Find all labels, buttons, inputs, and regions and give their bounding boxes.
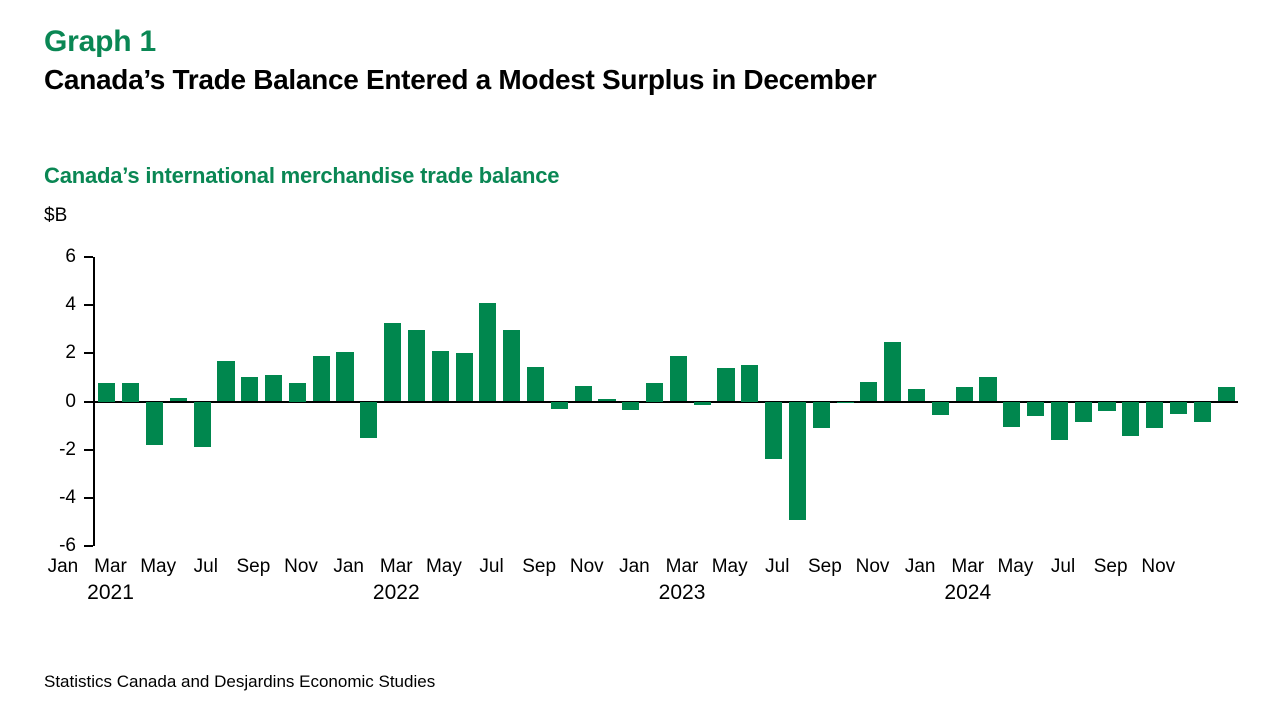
- y-axis-tick: [84, 304, 93, 306]
- bar-slot: [503, 246, 520, 566]
- y-axis-unit-label: $B: [44, 205, 67, 227]
- bar: [1170, 402, 1187, 414]
- bar-slot: [432, 246, 449, 566]
- bar-slot: [1051, 246, 1068, 566]
- bar-slot: [313, 246, 330, 566]
- chart-plot-area: 6420-2-4-6: [44, 246, 1244, 566]
- bar-slot: [837, 246, 854, 566]
- bar-slot: [1075, 246, 1092, 566]
- bar-slot: [1003, 246, 1020, 566]
- y-axis-tick: [84, 497, 93, 499]
- bar-slot: [265, 246, 282, 566]
- x-axis-month-label: Nov: [1132, 556, 1184, 578]
- bar-slot: [694, 246, 711, 566]
- bar-slot: [384, 246, 401, 566]
- x-axis-month-label: Sep: [227, 556, 279, 578]
- bar-slot: [408, 246, 425, 566]
- bar-slot: [908, 246, 925, 566]
- x-axis-month-label: Jul: [1037, 556, 1089, 578]
- bar: [670, 356, 687, 402]
- x-axis-month-label: Mar: [656, 556, 708, 578]
- bar-slot: [860, 246, 877, 566]
- bar: [408, 330, 425, 401]
- bar-slot: [884, 246, 901, 566]
- bar: [265, 375, 282, 401]
- bar: [1075, 402, 1092, 422]
- bar: [575, 386, 592, 402]
- bar-series: [95, 246, 1238, 566]
- bar: [837, 402, 854, 403]
- bar: [694, 402, 711, 406]
- x-axis-month-label: Jan: [37, 556, 89, 578]
- bar-slot: [1122, 246, 1139, 566]
- bar: [1194, 402, 1211, 422]
- bar: [1218, 387, 1235, 401]
- bar: [503, 330, 520, 401]
- chart-header: Graph 1 Canada’s Trade Balance Entered a…: [44, 24, 876, 98]
- x-axis-month-label: Jan: [323, 556, 375, 578]
- x-axis-year-label: 2021: [71, 581, 151, 605]
- x-axis-month-label: Nov: [847, 556, 899, 578]
- bar: [313, 356, 330, 402]
- bar: [98, 383, 115, 401]
- y-axis-tick: [84, 401, 93, 403]
- bar: [622, 402, 639, 410]
- bar-slot: [360, 246, 377, 566]
- bar: [813, 402, 830, 428]
- x-axis-month-label: Jul: [180, 556, 232, 578]
- bar-slot: [217, 246, 234, 566]
- bar-slot: [646, 246, 663, 566]
- bar: [170, 398, 187, 402]
- x-axis-month-label: Jul: [751, 556, 803, 578]
- bar: [956, 387, 973, 401]
- x-axis-year-label: 2024: [928, 581, 1008, 605]
- bar: [1122, 402, 1139, 437]
- bar: [884, 342, 901, 401]
- bar: [1027, 402, 1044, 416]
- bar: [122, 383, 139, 401]
- bar-slot: [717, 246, 734, 566]
- bar-slot: [622, 246, 639, 566]
- x-axis-month-label: Jan: [894, 556, 946, 578]
- x-axis-month-label: Sep: [799, 556, 851, 578]
- bar-slot: [289, 246, 306, 566]
- x-axis-year-label: 2023: [642, 581, 722, 605]
- bar-slot: [194, 246, 211, 566]
- bar-slot: [456, 246, 473, 566]
- x-axis-month-label: May: [989, 556, 1041, 578]
- bar-slot: [789, 246, 806, 566]
- bar-slot: [979, 246, 996, 566]
- bar: [360, 402, 377, 438]
- x-axis-month-labels: JanMarMayJulSepNovJanMarMayJulSepNovJanM…: [51, 556, 1194, 582]
- bar: [551, 402, 568, 409]
- bar: [1098, 402, 1115, 412]
- bar-slot: [1218, 246, 1235, 566]
- bar: [717, 368, 734, 402]
- bar-slot: [336, 246, 353, 566]
- x-axis-month-label: Sep: [1085, 556, 1137, 578]
- bar-slot: [146, 246, 163, 566]
- x-axis-month-label: Mar: [370, 556, 422, 578]
- bar-slot: [1027, 246, 1044, 566]
- x-axis-month-label: Mar: [942, 556, 994, 578]
- bar: [432, 351, 449, 402]
- x-axis-month-label: Nov: [561, 556, 613, 578]
- bar-slot: [741, 246, 758, 566]
- y-axis-tick-label: -6: [44, 536, 76, 555]
- bar: [1003, 402, 1020, 427]
- y-axis-tick: [84, 352, 93, 354]
- bar: [217, 361, 234, 402]
- bar-slot: [1170, 246, 1187, 566]
- x-axis-month-label: Mar: [85, 556, 137, 578]
- bar: [384, 323, 401, 401]
- bar: [598, 399, 615, 401]
- bar: [1146, 402, 1163, 428]
- bar: [789, 402, 806, 520]
- bar-slot: [598, 246, 615, 566]
- y-axis-tick: [84, 256, 93, 258]
- bar-slot: [575, 246, 592, 566]
- source-note: Statistics Canada and Desjardins Economi…: [44, 672, 435, 692]
- y-axis-tick-label: -4: [44, 488, 76, 507]
- bar: [932, 402, 949, 415]
- bar-slot: [241, 246, 258, 566]
- graph-number-label: Graph 1: [44, 24, 876, 60]
- bar: [146, 402, 163, 445]
- bar: [456, 353, 473, 401]
- y-axis-tick: [84, 545, 93, 547]
- y-axis-tick: [84, 449, 93, 451]
- bar-slot: [765, 246, 782, 566]
- bar: [860, 382, 877, 401]
- bar: [646, 383, 663, 401]
- bar: [527, 367, 544, 402]
- x-axis-month-label: May: [704, 556, 756, 578]
- bar-slot: [670, 246, 687, 566]
- bar: [241, 377, 258, 401]
- bar: [908, 389, 925, 401]
- bar-slot: [813, 246, 830, 566]
- bar-slot: [1146, 246, 1163, 566]
- y-axis-tick-label: 6: [44, 247, 76, 266]
- bar-slot: [1194, 246, 1211, 566]
- y-axis-tick-label: 2: [44, 343, 76, 362]
- bar: [194, 402, 211, 448]
- bar: [979, 377, 996, 401]
- chart-title: Canada’s Trade Balance Entered a Modest …: [44, 62, 876, 98]
- bar-slot: [1098, 246, 1115, 566]
- bar-slot: [122, 246, 139, 566]
- x-axis-month-label: Jan: [608, 556, 660, 578]
- bar: [289, 383, 306, 401]
- x-axis-month-label: May: [418, 556, 470, 578]
- x-axis-month-label: Sep: [513, 556, 565, 578]
- x-axis-year-labels: 2021202220232024: [51, 581, 1194, 609]
- bar-slot: [956, 246, 973, 566]
- y-axis-tick-label: -2: [44, 440, 76, 459]
- bar: [479, 303, 496, 402]
- x-axis-month-label: Jul: [466, 556, 518, 578]
- y-axis-tick-label: 4: [44, 295, 76, 314]
- y-axis-tick-label: 0: [44, 392, 76, 411]
- bar: [336, 352, 353, 401]
- bar-slot: [551, 246, 568, 566]
- bar: [741, 365, 758, 401]
- x-axis-month-label: May: [132, 556, 184, 578]
- bar-slot: [98, 246, 115, 566]
- bar-slot: [170, 246, 187, 566]
- bar: [1051, 402, 1068, 441]
- x-axis-year-label: 2022: [356, 581, 436, 605]
- x-axis-month-label: Nov: [275, 556, 327, 578]
- bar: [765, 402, 782, 460]
- chart-subtitle: Canada’s international merchandise trade…: [44, 163, 559, 189]
- bar-slot: [932, 246, 949, 566]
- bar-slot: [527, 246, 544, 566]
- bar-slot: [479, 246, 496, 566]
